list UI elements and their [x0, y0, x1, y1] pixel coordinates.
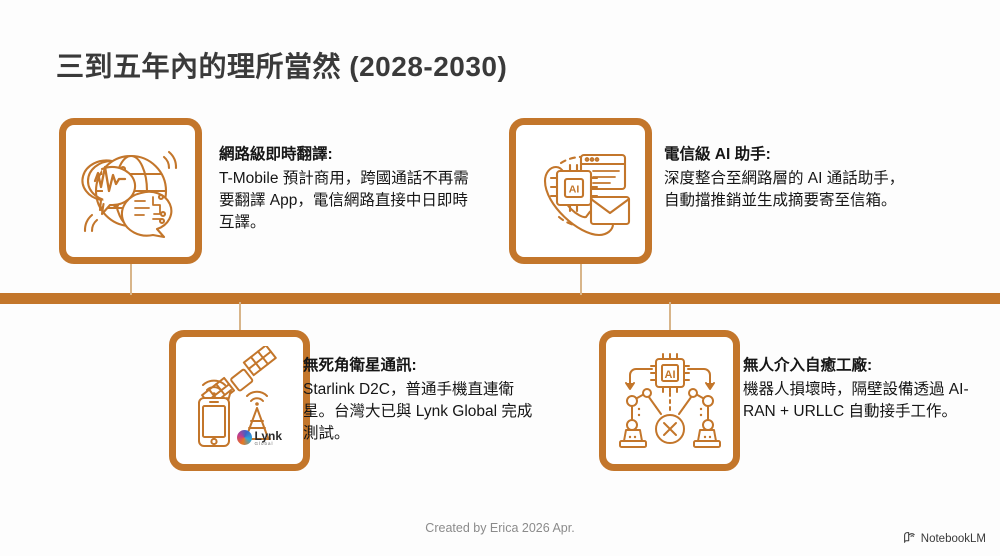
item-body: 機器人損壞時，隔壁設備透過 AI-RAN + URLLC 自動接手工作。: [743, 379, 978, 423]
lynk-global-logo: Lynk Global: [237, 430, 283, 447]
timeline-bar: [0, 293, 1000, 304]
svg-text:AI: AI: [568, 184, 579, 196]
slide-canvas: 三到五年內的理所當然 (2028-2030): [0, 0, 1000, 556]
item-title: 無死角衛星通訊:: [303, 355, 538, 377]
card-network-translation[interactable]: [59, 118, 202, 264]
notebooklm-icon: [903, 531, 916, 547]
item-body: T-Mobile 預計商用，跨國通話不再需要翻譯 App，電信網路直接中日即時互…: [219, 168, 469, 234]
lynk-logo-mark: [237, 430, 252, 445]
card-self-healing-factory[interactable]: AI: [599, 330, 740, 471]
text-self-healing-factory: 無人介入自癒工廠: 機器人損壞時，隔壁設備透過 AI-RAN + URLLC 自…: [743, 355, 978, 423]
footer-credit: Created by Erica 2026 Apr.: [0, 521, 1000, 535]
text-satellite-coverage: 無死角衛星通訊: Starlink D2C，普通手機直連衛星。台灣大已與 Lyn…: [303, 355, 538, 445]
phone-ai-chip-mail-icon: AI: [525, 135, 637, 247]
item-title: 無人介入自癒工廠:: [743, 355, 978, 377]
text-network-translation: 網路級即時翻譯: T-Mobile 預計商用，跨國通話不再需要翻譯 App，電信…: [219, 144, 469, 234]
connector-line-bottom-left: [239, 302, 241, 330]
text-telecom-ai-assistant: 電信級 AI 助手: 深度整合至網路層的 AI 通話助手，自動擋推銷並生成摘要寄…: [664, 144, 914, 212]
item-title: 網路級即時翻譯:: [219, 144, 469, 166]
item-title: 電信級 AI 助手:: [664, 144, 914, 166]
globe-speech-bubbles-icon: [75, 135, 187, 247]
connector-line-top-left: [130, 263, 132, 295]
lynk-logo-text: Lynk: [255, 430, 283, 442]
notebooklm-brand: NotebookLM: [903, 531, 986, 547]
page-title: 三到五年內的理所當然 (2028-2030): [56, 45, 507, 85]
robot-arms-ai-icon: AI: [614, 345, 726, 457]
connector-line-bottom-right: [669, 302, 671, 330]
satellite-phone-tower-icon: Lynk Global: [185, 346, 295, 456]
connector-line-top-right: [580, 263, 582, 295]
card-telecom-ai-assistant[interactable]: AI: [509, 118, 652, 264]
item-body: Starlink D2C，普通手機直連衛星。台灣大已與 Lynk Global …: [303, 379, 538, 445]
svg-text:AI: AI: [664, 369, 675, 381]
notebooklm-label: NotebookLM: [921, 533, 986, 545]
item-body: 深度整合至網路層的 AI 通話助手，自動擋推銷並生成摘要寄至信箱。: [664, 168, 914, 212]
card-satellite-coverage[interactable]: Lynk Global: [169, 330, 310, 471]
